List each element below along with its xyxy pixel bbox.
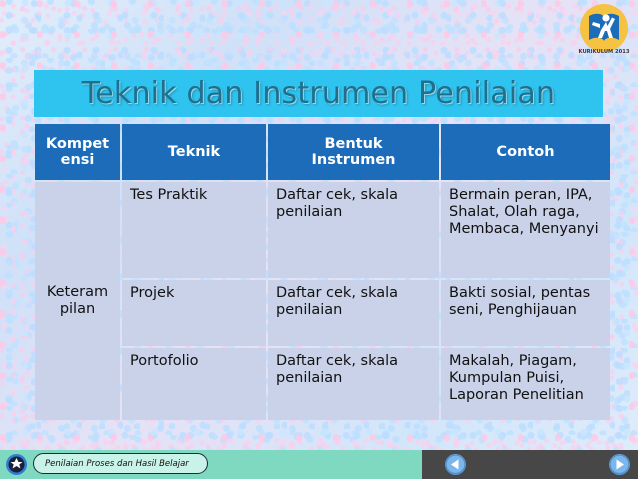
slide-canvas: KURIKULUM 2013 Teknik dan Instrumen Peni… bbox=[0, 0, 638, 479]
column-header-teknik: Teknik bbox=[122, 124, 266, 180]
row-label-keterampilan: Keteram pilan bbox=[35, 182, 120, 420]
assessment-table-container: Kompet ensi Teknik Bentuk Instrumen Cont… bbox=[33, 122, 606, 448]
table-row: Keteram pilan Tes Praktik Daftar cek, sk… bbox=[35, 182, 610, 278]
column-header-teknik-line1: Teknik bbox=[168, 144, 220, 160]
table-row: Projek Daftar cek, skala penilaian Bakti… bbox=[35, 280, 610, 346]
row-label-line1: Keteram bbox=[47, 284, 108, 300]
cell-contoh: Bermain peran, IPA, Shalat, Olah raga, M… bbox=[441, 182, 610, 278]
column-header-contoh-line1: Contoh bbox=[496, 144, 554, 160]
cell-teknik: Tes Praktik bbox=[122, 182, 266, 278]
cell-teknik: Portofolio bbox=[122, 348, 266, 420]
svg-text:KURIKULUM 2013: KURIKULUM 2013 bbox=[579, 49, 630, 55]
table-body: Keteram pilan Tes Praktik Daftar cek, sk… bbox=[35, 182, 610, 420]
kurikulum-badge-icon: KURIKULUM 2013 bbox=[576, 2, 632, 58]
previous-slide-button[interactable] bbox=[444, 453, 467, 476]
cell-teknik: Projek bbox=[122, 280, 266, 346]
cell-bentuk-instrumen: Daftar cek, skala penilaian bbox=[268, 348, 439, 420]
column-header-kompetensi: Kompet ensi bbox=[35, 124, 120, 180]
column-header-bentuk-instrumen: Bentuk Instrumen bbox=[268, 124, 439, 180]
slide-title-band: Teknik dan Instrumen Penilaian bbox=[34, 70, 603, 117]
table-header: Kompet ensi Teknik Bentuk Instrumen Cont… bbox=[35, 124, 610, 180]
cell-bentuk-instrumen: Daftar cek, skala penilaian bbox=[268, 280, 439, 346]
page-title: Teknik dan Instrumen Penilaian bbox=[82, 76, 555, 111]
column-header-bentuk-line1: Bentuk bbox=[324, 136, 382, 152]
cell-contoh: Makalah, Piagam, Kumpulan Puisi, Laporan… bbox=[441, 348, 610, 420]
table-header-row: Kompet ensi Teknik Bentuk Instrumen Cont… bbox=[35, 124, 610, 180]
cell-bentuk-instrumen: Daftar cek, skala penilaian bbox=[268, 182, 439, 278]
institution-emblem-icon bbox=[5, 453, 28, 476]
table-row: Portofolio Daftar cek, skala penilaian M… bbox=[35, 348, 610, 420]
row-label-line2: pilan bbox=[60, 301, 95, 317]
column-header-contoh: Contoh bbox=[441, 124, 610, 180]
column-header-kompetensi-line2: ensi bbox=[61, 152, 95, 168]
column-header-kompetensi-line1: Kompet bbox=[46, 136, 109, 152]
footer-label-box: Penilaian Proses dan Hasil Belajar bbox=[33, 453, 208, 474]
footer-label: Penilaian Proses dan Hasil Belajar bbox=[45, 459, 189, 469]
footer-bar: Penilaian Proses dan Hasil Belajar bbox=[0, 450, 638, 479]
next-slide-button[interactable] bbox=[608, 453, 631, 476]
cell-contoh: Bakti sosial, pentas seni, Penghijauan bbox=[441, 280, 610, 346]
column-header-bentuk-line2: Instrumen bbox=[311, 152, 395, 168]
assessment-table: Kompet ensi Teknik Bentuk Instrumen Cont… bbox=[33, 122, 612, 422]
